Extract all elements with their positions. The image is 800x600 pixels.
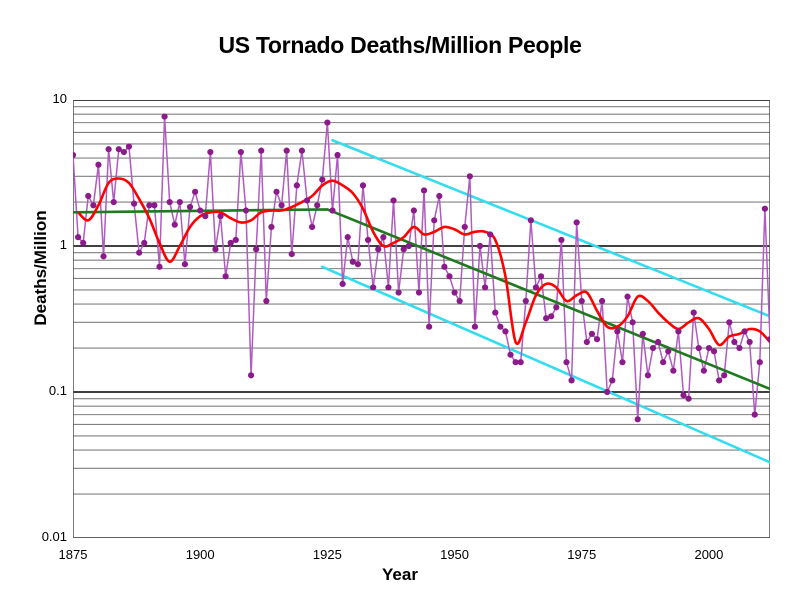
data-point xyxy=(319,176,325,182)
data-point xyxy=(757,359,763,365)
data-point xyxy=(253,246,259,252)
data-point xyxy=(360,182,366,188)
data-point xyxy=(294,182,300,188)
data-point xyxy=(390,197,396,203)
data-point xyxy=(268,224,274,230)
data-point xyxy=(284,148,290,154)
data-point xyxy=(533,284,539,290)
data-point xyxy=(202,213,208,219)
data-point xyxy=(111,199,117,205)
data-point xyxy=(431,217,437,223)
data-point xyxy=(411,207,417,213)
data-point xyxy=(248,372,254,378)
data-point xyxy=(624,294,630,300)
data-point xyxy=(197,207,203,213)
chart-root: US Tornado Deaths/Million People Deaths/… xyxy=(0,0,800,600)
data-point xyxy=(207,149,213,155)
y-tick-label: 0.01 xyxy=(11,529,67,544)
data-point xyxy=(736,345,742,351)
data-point xyxy=(457,298,463,304)
data-point xyxy=(217,213,223,219)
data-point xyxy=(558,237,564,243)
data-point xyxy=(151,202,157,208)
data-point xyxy=(731,339,737,345)
data-point xyxy=(73,152,76,158)
data-point xyxy=(507,352,513,358)
data-point xyxy=(299,148,305,154)
data-point xyxy=(289,251,295,257)
data-point xyxy=(686,396,692,402)
data-point xyxy=(406,243,412,249)
data-point xyxy=(141,240,147,246)
data-point-markers xyxy=(73,113,770,422)
y-tick-label: 1 xyxy=(11,237,67,252)
x-tick-label: 1975 xyxy=(552,547,612,562)
x-tick-label: 1950 xyxy=(425,547,485,562)
data-point xyxy=(192,189,198,195)
data-point xyxy=(523,298,529,304)
data-point xyxy=(747,339,753,345)
data-point xyxy=(462,224,468,230)
data-point xyxy=(182,261,188,267)
data-point xyxy=(548,313,554,319)
data-point xyxy=(645,372,651,378)
data-point xyxy=(660,359,666,365)
data-point xyxy=(691,309,697,315)
data-point xyxy=(716,377,722,383)
data-point xyxy=(635,416,641,422)
x-tick-label: 1900 xyxy=(170,547,230,562)
data-point xyxy=(75,234,81,240)
x-tick-label: 1925 xyxy=(297,547,357,562)
data-point xyxy=(538,273,544,279)
data-point xyxy=(172,222,178,228)
x-axis-title: Year xyxy=(0,565,800,585)
data-point xyxy=(273,189,279,195)
data-point xyxy=(314,202,320,208)
data-point xyxy=(161,113,167,119)
data-point xyxy=(355,261,361,267)
data-point xyxy=(80,240,86,246)
data-point xyxy=(599,298,605,304)
data-point xyxy=(563,359,569,365)
data-point xyxy=(574,219,580,225)
data-point xyxy=(380,234,386,240)
data-point xyxy=(156,264,162,270)
data-point xyxy=(329,207,335,213)
data-point xyxy=(136,250,142,256)
data-point xyxy=(212,246,218,252)
data-point xyxy=(95,162,101,168)
data-point xyxy=(90,202,96,208)
data-point xyxy=(502,328,508,334)
data-point xyxy=(421,187,427,193)
data-point xyxy=(589,331,595,337)
data-point xyxy=(451,289,457,295)
data-point xyxy=(177,199,183,205)
data-point xyxy=(345,234,351,240)
data-point xyxy=(243,207,249,213)
data-point xyxy=(568,377,574,383)
data-point xyxy=(238,149,244,155)
data-point xyxy=(223,273,229,279)
data-point xyxy=(614,328,620,334)
data-point xyxy=(655,339,661,345)
data-point xyxy=(619,359,625,365)
data-point xyxy=(665,348,671,354)
data-point xyxy=(131,201,137,207)
data-point xyxy=(416,289,422,295)
data-point xyxy=(370,284,376,290)
data-point xyxy=(334,152,340,158)
data-point xyxy=(340,281,346,287)
y-tick-label: 0.1 xyxy=(11,383,67,398)
data-point xyxy=(187,204,193,210)
data-point xyxy=(309,224,315,230)
y-axis-title: Deaths/Million xyxy=(31,173,51,363)
data-point xyxy=(675,328,681,334)
data-point xyxy=(126,143,132,149)
data-point xyxy=(497,324,503,330)
data-point xyxy=(706,345,712,351)
data-point xyxy=(752,412,758,418)
data-point xyxy=(650,345,656,351)
data-point xyxy=(436,193,442,199)
data-point xyxy=(396,289,402,295)
data-point xyxy=(518,359,524,365)
chart-canvas xyxy=(73,100,770,538)
x-tick-label: 2000 xyxy=(679,547,739,562)
data-point xyxy=(472,324,478,330)
data-point xyxy=(492,309,498,315)
data-point xyxy=(487,231,493,237)
data-point xyxy=(467,173,473,179)
data-point xyxy=(385,284,391,290)
data-point xyxy=(701,368,707,374)
data-point xyxy=(258,148,264,154)
data-point xyxy=(477,243,483,249)
data-point xyxy=(121,149,127,155)
data-point xyxy=(100,253,106,259)
data-point xyxy=(441,264,447,270)
data-point xyxy=(528,217,534,223)
data-point xyxy=(640,331,646,337)
data-point xyxy=(726,319,732,325)
data-point xyxy=(711,348,717,354)
x-tick-marks xyxy=(73,100,709,538)
data-point xyxy=(365,237,371,243)
chart-title: US Tornado Deaths/Million People xyxy=(0,32,800,59)
data-point xyxy=(680,392,686,398)
data-point xyxy=(741,328,747,334)
data-point xyxy=(594,336,600,342)
data-point xyxy=(482,284,488,290)
data-point xyxy=(609,377,615,383)
data-point xyxy=(584,339,590,345)
data-point xyxy=(670,368,676,374)
data-point xyxy=(263,298,269,304)
data-point xyxy=(604,389,610,395)
data-point xyxy=(553,304,559,310)
plot-area xyxy=(73,100,770,538)
data-point xyxy=(324,120,330,126)
data-point xyxy=(278,202,284,208)
data-point xyxy=(446,273,452,279)
data-point xyxy=(167,199,173,205)
data-point xyxy=(375,246,381,252)
data-point xyxy=(630,319,636,325)
data-point xyxy=(579,298,585,304)
y-tick-label: 10 xyxy=(11,91,67,106)
data-point xyxy=(233,237,239,243)
data-point xyxy=(85,193,91,199)
series-annual-line xyxy=(73,117,770,420)
data-point xyxy=(762,206,768,212)
x-tick-label: 1875 xyxy=(43,547,103,562)
data-point xyxy=(401,246,407,252)
data-point xyxy=(304,197,310,203)
data-point xyxy=(696,345,702,351)
data-point xyxy=(106,146,112,152)
data-point xyxy=(426,324,432,330)
data-point xyxy=(721,372,727,378)
